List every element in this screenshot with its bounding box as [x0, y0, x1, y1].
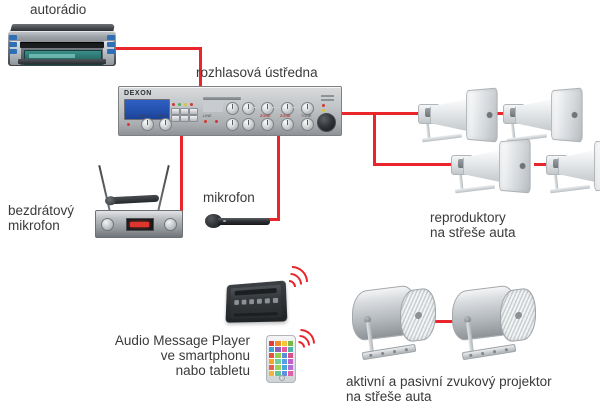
handheld-microphone[interactable]	[205, 214, 271, 228]
amplifier-link-dash-3	[253, 107, 260, 108]
smartphone-app-tile[interactable]	[269, 359, 274, 364]
horn-mouth	[466, 88, 498, 143]
wireless-microphone-receiver[interactable]	[95, 160, 181, 238]
car-radio-button-3[interactable]	[9, 49, 17, 54]
amplifier-preset-button-3[interactable]	[189, 108, 198, 115]
amplifier-knob-left-1[interactable]	[141, 118, 154, 131]
amplifier-knob-left-2[interactable]	[159, 118, 172, 131]
amplifier-label-mic1: MIC 1	[140, 114, 151, 118]
amplifier-led-center-2	[215, 120, 218, 123]
wire-radio-to-amp-horizontal	[116, 47, 202, 50]
amplifier-vu-meter-2	[321, 99, 334, 101]
amplifier-knob-center-4[interactable]	[242, 118, 255, 131]
projector-grille	[500, 287, 536, 343]
amplifier-link-dash-1	[272, 107, 280, 108]
amplifier-master-volume-knob[interactable]	[317, 113, 336, 132]
car-radio-cd-slot[interactable]	[20, 42, 104, 48]
car-radio-body	[8, 31, 116, 66]
amplifier-label-zone1: ZONE	[260, 114, 271, 118]
horn-mouth	[551, 88, 583, 143]
horn-mouth	[499, 139, 531, 194]
label-sound-projectors: aktivní a pasivní zvukový projektor na s…	[346, 374, 552, 404]
label-car-radio: autorádio	[30, 2, 86, 17]
smartphone-app-tile[interactable]	[275, 341, 280, 346]
sound-projector-passive[interactable]	[452, 282, 538, 360]
receiver-body	[95, 210, 183, 238]
amplifier-led-protect	[190, 103, 193, 106]
smartphone-app-tile[interactable]	[275, 353, 280, 358]
amplifier-label-zone2: ZONE	[280, 114, 291, 118]
receiver-antenna-right	[157, 165, 170, 212]
amplifier-center-panel	[203, 102, 223, 112]
label-roof-speakers: reproduktory na střeše auta	[430, 210, 516, 240]
amplifier-knob-center-1[interactable]	[226, 102, 239, 115]
label-microphone: mikrofon	[203, 190, 255, 205]
car-radio-preset-bar[interactable]	[18, 59, 106, 64]
car-radio-button-5[interactable]	[107, 42, 115, 47]
amplifier-led-signal	[178, 103, 181, 106]
wire-speakers-lower-row	[373, 163, 451, 166]
smartphone-app-tile[interactable]	[275, 347, 280, 352]
smartphone-app-tile[interactable]	[282, 359, 287, 364]
amplifier-indicator-block	[171, 99, 193, 101]
smartphone-app-tile[interactable]	[269, 365, 274, 370]
amplifier-brand-logo: DEXON	[124, 90, 152, 97]
smartphone-home-button[interactable]	[279, 375, 285, 381]
label-wireless-microphone: bezdrátový mikrofon	[8, 203, 74, 233]
receiver-left-knob[interactable]	[101, 218, 114, 231]
tablet-wireless-waves-icon	[282, 262, 312, 292]
amplifier-center-strip	[203, 97, 241, 100]
amplifier-preset-button-1[interactable]	[171, 108, 180, 115]
label-pa-amplifier: rozhlasová ústředna	[196, 65, 318, 80]
amplifier-label-tone: TONE	[301, 114, 312, 118]
amplifier-preset-button-6[interactable]	[189, 115, 198, 122]
pa-amplifier-device[interactable]: DEXON LINE MIC 1 MIC 2	[118, 86, 342, 136]
tablet-screen[interactable]	[230, 285, 282, 319]
wire-speakers-branch-vertical	[373, 112, 376, 165]
tablet-nav-bar	[234, 312, 278, 316]
amplifier-led-center-1	[204, 120, 207, 123]
smartphone-app-tile[interactable]	[282, 353, 287, 358]
horn-speaker-top-right[interactable]	[501, 88, 583, 140]
amplifier-knob-right-bot-1[interactable]	[261, 118, 274, 131]
tablet-app-icons	[234, 298, 277, 307]
horn-mouth	[594, 139, 600, 194]
wire-amp-to-mic-vertical	[277, 132, 280, 221]
amplifier-vu-meter-1	[321, 95, 334, 97]
horn-speaker-bottom-left[interactable]	[449, 139, 531, 191]
smartphone-app-tile[interactable]	[269, 371, 274, 376]
sound-projector-active[interactable]	[352, 282, 438, 360]
smartphone-app-tile[interactable]	[269, 341, 274, 346]
smartphone-app-tile[interactable]	[288, 371, 293, 376]
label-audio-message-player: Audio Message Player ve smartphonu nabo …	[60, 333, 250, 378]
receiver-led-display	[126, 218, 154, 231]
smartphone-app-tile[interactable]	[275, 359, 280, 364]
smartphone-app-tile[interactable]	[282, 365, 287, 370]
smartphone-app-tile[interactable]	[269, 353, 274, 358]
receiver-handheld-mic	[109, 195, 159, 205]
amplifier-led-clip	[184, 103, 187, 106]
amplifier-knob-right-bot-3[interactable]	[301, 118, 314, 131]
amplifier-preset-button-2[interactable]	[180, 108, 189, 115]
tablet-status-bar	[235, 288, 277, 296]
amplifier-knob-right-bot-2[interactable]	[281, 118, 294, 131]
pa-system-diagram: autorádio DEXON LINE MIC 1 MIC 2	[0, 0, 600, 414]
horn-speaker-bottom-right[interactable]	[544, 139, 600, 191]
amplifier-label-mic2: MIC 2	[158, 114, 169, 118]
projector-grille	[400, 287, 436, 343]
car-radio-button-4[interactable]	[107, 35, 115, 40]
microphone-body	[218, 218, 270, 225]
receiver-right-knob[interactable]	[164, 218, 177, 231]
amplifier-knob-center-3[interactable]	[226, 118, 239, 131]
amplifier-label-center: LINE	[203, 114, 212, 118]
amplifier-link-dash-2	[292, 107, 300, 108]
smartphone-app-tile[interactable]	[288, 359, 293, 364]
amplifier-led-master-1	[322, 104, 325, 107]
smartphone-app-tile[interactable]	[288, 365, 293, 370]
car-radio-button-6[interactable]	[107, 49, 115, 54]
amplifier-preset-button-5[interactable]	[180, 115, 189, 122]
smartphone-app-tile[interactable]	[275, 365, 280, 370]
amplifier-led-master-2	[322, 109, 325, 112]
smartphone-wireless-waves-icon	[292, 326, 318, 352]
amplifier-led-left	[127, 123, 130, 126]
amplifier-led-power	[172, 103, 175, 106]
car-radio-button-1[interactable]	[9, 35, 17, 40]
car-radio-button-2[interactable]	[9, 42, 17, 47]
smartphone-app-tile[interactable]	[269, 347, 274, 352]
amplifier-preset-button-4[interactable]	[171, 115, 180, 122]
amplifier-knob-center-2[interactable]	[242, 102, 255, 115]
car-radio-device[interactable]	[8, 24, 116, 66]
wire-amp-to-speakers-trunk	[338, 112, 418, 115]
horn-speaker-top-left[interactable]	[416, 88, 498, 140]
